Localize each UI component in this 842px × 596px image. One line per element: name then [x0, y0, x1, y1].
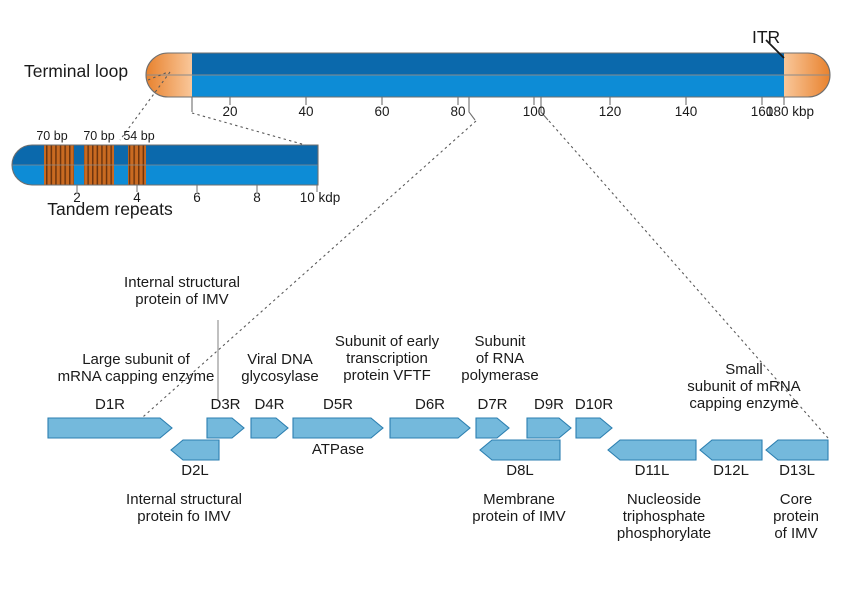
annotation-bottom-4: Coreproteinof IMV — [773, 492, 819, 542]
gene-arrow-d4r[interactable] — [251, 418, 288, 438]
repeat-label-2: 70 bp — [83, 129, 114, 143]
genome-tick-180: 180 kbp — [766, 104, 814, 119]
annotation-bottom-3-line-1: Nucleoside — [617, 492, 711, 509]
gene-label-d9r: D9R — [534, 397, 564, 414]
annotation-bottom-2: Membraneprotein of IMV — [472, 492, 565, 526]
gene-label-d13l: D13L — [779, 463, 815, 480]
gene-arrow-d10r[interactable] — [576, 418, 612, 438]
gene-arrow-d13l[interactable] — [766, 440, 828, 460]
gene-label-d5r: D5R — [323, 397, 353, 414]
gene-label-d12l: D12L — [713, 463, 749, 480]
annotation-top-6-line-3: capping enzyme — [687, 396, 800, 413]
gene-label-d4r: D4R — [254, 397, 284, 414]
gene-sublabel-atpase: ATPase — [312, 442, 364, 459]
annotation-bottom-4-line-3: of IMV — [773, 526, 819, 543]
gene-arrow-d3r[interactable] — [207, 418, 244, 438]
gene-arrow-d5r[interactable] — [293, 418, 383, 438]
inset-tick-6: 6 — [193, 190, 201, 205]
annotation-top-3-line-1: Viral DNA — [241, 352, 319, 369]
gene-label-d7r: D7R — [477, 397, 507, 414]
genome-bar — [146, 53, 830, 97]
annotation-top-5: Subunitof RNApolymerase — [461, 334, 539, 384]
annotation-top-5-line-1: Subunit — [461, 334, 539, 351]
annotation-bottom-3: Nucleosidetriphosphatephosphorylate — [617, 492, 711, 542]
tandem-repeats-caption: Tandem repeats — [47, 200, 173, 220]
annotation-top-6: Smallsubunit of mRNAcapping enzyme — [687, 362, 800, 412]
repeat-label-1: 70 bp — [36, 129, 67, 143]
annotation-top-1-line-1: Large subunit of — [58, 352, 215, 369]
annotation-bottom-2-line-2: protein of IMV — [472, 509, 565, 526]
genome-tick-140: 140 — [675, 104, 698, 119]
annotation-bottom-2-line-1: Membrane — [472, 492, 565, 509]
gene-arrow-row-forward — [48, 418, 612, 438]
terminal-loop-label: Terminal loop — [24, 62, 128, 82]
gene-label-d6r: D6R — [415, 397, 445, 414]
gene-arrow-d7r[interactable] — [476, 418, 509, 438]
inset-tick-10: 10 kdp — [300, 190, 341, 205]
gene-arrow-d9r[interactable] — [527, 418, 571, 438]
figure-canvas: Terminal loop ITR 2040608010012014016018… — [0, 0, 842, 596]
annotation-top-3: Viral DNAglycosylase — [241, 352, 319, 386]
gene-label-d3r: D3R — [210, 397, 240, 414]
annotation-bottom-3-line-3: phosphorylate — [617, 526, 711, 543]
annotation-bottom-1-line-1: Internal structural — [126, 492, 242, 509]
annotation-top-2: Internal structuralprotein of IMV — [124, 275, 240, 309]
annotation-bottom-4-line-1: Core — [773, 492, 819, 509]
gene-arrow-d8l[interactable] — [480, 440, 560, 460]
genome-tick-80: 80 — [450, 104, 465, 119]
gene-arrow-row-reverse — [171, 440, 828, 460]
annotation-top-4-line-2: transcription — [335, 351, 439, 368]
itr-label: ITR — [752, 28, 780, 48]
annotation-top-1: Large subunit ofmRNA capping enzyme — [58, 352, 215, 386]
gene-arrow-d1r[interactable] — [48, 418, 172, 438]
genome-tick-120: 120 — [599, 104, 622, 119]
gene-label-d8l: D8L — [506, 463, 534, 480]
annotation-bottom-4-line-2: protein — [773, 509, 819, 526]
genome-tick-40: 40 — [298, 104, 313, 119]
repeat-label-3: 54 bp — [123, 129, 154, 143]
genome-tick-60: 60 — [374, 104, 389, 119]
gene-arrow-d2l[interactable] — [171, 440, 219, 460]
tandem-repeat-inset — [12, 145, 318, 185]
annotation-top-5-line-3: polymerase — [461, 368, 539, 385]
inset-tick-8: 8 — [253, 190, 261, 205]
annotation-top-2-line-1: Internal structural — [124, 275, 240, 292]
annotation-bottom-3-line-2: triphosphate — [617, 509, 711, 526]
genome-tick-20: 20 — [222, 104, 237, 119]
annotation-top-3-line-2: glycosylase — [241, 369, 319, 386]
annotation-top-4-line-1: Subunit of early — [335, 334, 439, 351]
annotation-top-5-line-2: of RNA — [461, 351, 539, 368]
genome-tick-100: 100 — [523, 104, 546, 119]
annotation-top-6-line-2: subunit of mRNA — [687, 379, 800, 396]
annotation-top-6-line-1: Small — [687, 362, 800, 379]
gene-arrow-d6r[interactable] — [390, 418, 470, 438]
annotation-bottom-1: Internal structuralprotein fo IMV — [126, 492, 242, 526]
gene-label-d2l: D2L — [181, 463, 209, 480]
annotation-bottom-1-line-2: protein fo IMV — [126, 509, 242, 526]
annotation-top-2-line-2: protein of IMV — [124, 292, 240, 309]
gene-label-d10r: D10R — [575, 397, 613, 414]
gene-label-d1r: D1R — [95, 397, 125, 414]
annotation-top-1-line-2: mRNA capping enzyme — [58, 369, 215, 386]
annotation-top-4-line-3: protein VFTF — [335, 368, 439, 385]
gene-arrow-d11l[interactable] — [608, 440, 696, 460]
annotation-top-4: Subunit of earlytranscriptionprotein VFT… — [335, 334, 439, 384]
gene-label-d11l: D11L — [635, 463, 670, 480]
gene-arrow-d12l[interactable] — [700, 440, 762, 460]
